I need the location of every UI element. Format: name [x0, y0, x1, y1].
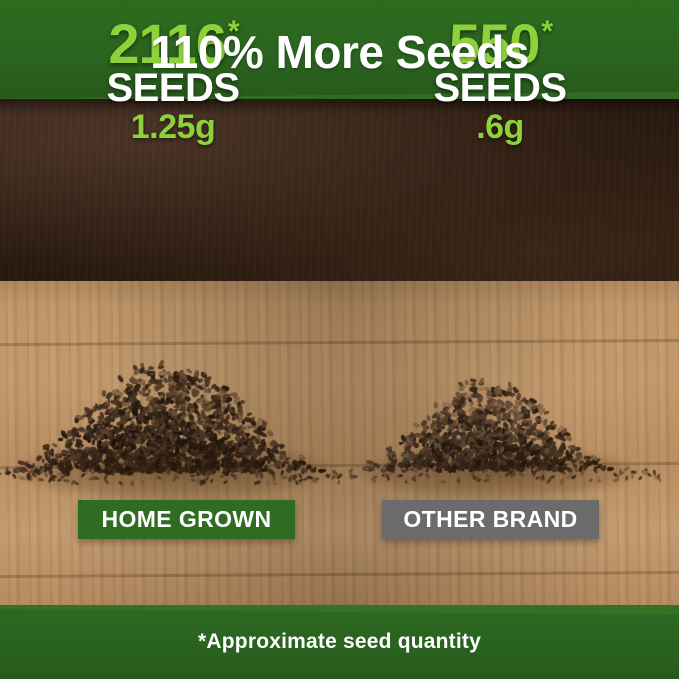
seed-weight-value: .6g	[335, 110, 665, 146]
seed-weight-value: 1.25g	[8, 110, 338, 146]
plank-seam	[0, 571, 679, 578]
seed-pile-other-brand	[335, 318, 665, 523]
seed-pile-shadow	[14, 440, 332, 502]
seed-pile-shadow	[357, 446, 637, 500]
seed-comparison-infographic: 110% More Seeds 2116* SEEDS 1.25g 550* S…	[0, 0, 679, 679]
label-home-grown: HOME GROWN	[78, 500, 295, 539]
label-other-brand: OTHER BRAND	[382, 500, 599, 539]
page-title: 110% More Seeds	[0, 0, 679, 103]
seed-pile-home-grown	[0, 300, 340, 520]
footnote-text: *Approximate seed quantity	[0, 605, 679, 679]
